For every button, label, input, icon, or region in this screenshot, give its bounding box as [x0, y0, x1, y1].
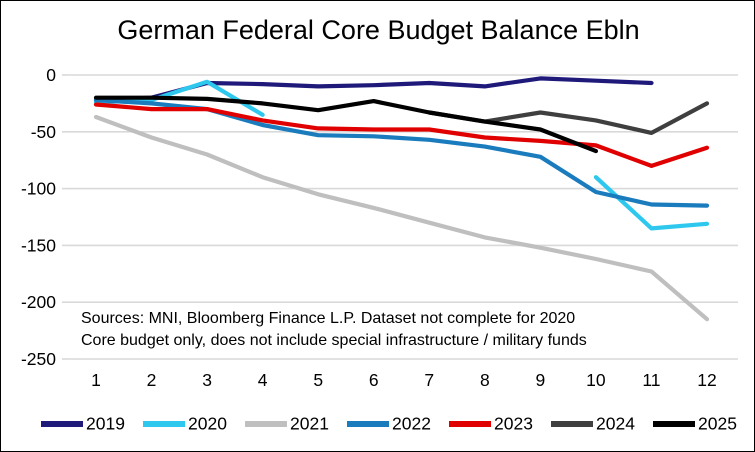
legend-label-2022[interactable]: 2022 [392, 414, 431, 434]
series-line-2023 [96, 105, 707, 166]
x-axis-tick-label: 12 [697, 370, 716, 390]
x-axis-tick-label: 7 [424, 370, 434, 390]
x-axis-tick-label: 4 [258, 370, 268, 390]
series-line-2021 [96, 117, 707, 319]
legend-label-2020[interactable]: 2020 [188, 414, 227, 434]
x-axis-tick-label: 6 [369, 370, 379, 390]
x-axis-tick-label: 8 [480, 370, 490, 390]
x-axis-tick-label: 2 [147, 370, 157, 390]
source-annotation: Sources: MNI, Bloomberg Finance L.P. Dat… [81, 310, 587, 349]
source-note-line: Core budget only, does not include speci… [81, 332, 587, 349]
x-axis-tick-labels: 123456789101112 [91, 370, 717, 390]
chart-container: German Federal Core Budget Balance Ebln … [0, 0, 755, 452]
y-axis-tick-label: -250 [21, 349, 56, 369]
x-axis-tick-label: 3 [202, 370, 212, 390]
legend-label-2025[interactable]: 2025 [698, 414, 737, 434]
legend-label-2024[interactable]: 2024 [596, 414, 635, 434]
x-axis-tick-label: 9 [535, 370, 545, 390]
x-axis-tick-label: 10 [586, 370, 606, 390]
x-axis-tick-label: 5 [313, 370, 323, 390]
y-axis-tick-labels: 0-50-100-150-200-250 [21, 65, 56, 369]
legend-label-2021[interactable]: 2021 [290, 414, 329, 434]
x-axis-tick-label: 1 [91, 370, 101, 390]
y-axis-tick-label: -50 [31, 122, 57, 142]
chart-plot-area: 0-50-100-150-200-250 123456789101112 Sou… [1, 1, 755, 452]
y-axis-tick-label: 0 [46, 65, 56, 85]
x-axis-tick-label: 11 [642, 370, 660, 390]
y-axis-tick-label: -200 [21, 292, 56, 312]
legend-label-2019[interactable]: 2019 [86, 414, 125, 434]
legend-label-2023[interactable]: 2023 [494, 414, 533, 434]
y-axis-tick-label: -100 [21, 179, 56, 199]
series-lines [96, 78, 707, 319]
source-note-line: Sources: MNI, Bloomberg Finance L.P. Dat… [81, 310, 575, 327]
y-axis-tick-label: -150 [21, 235, 56, 255]
chart-legend[interactable]: 2019202020212022202320242025 [41, 414, 737, 434]
